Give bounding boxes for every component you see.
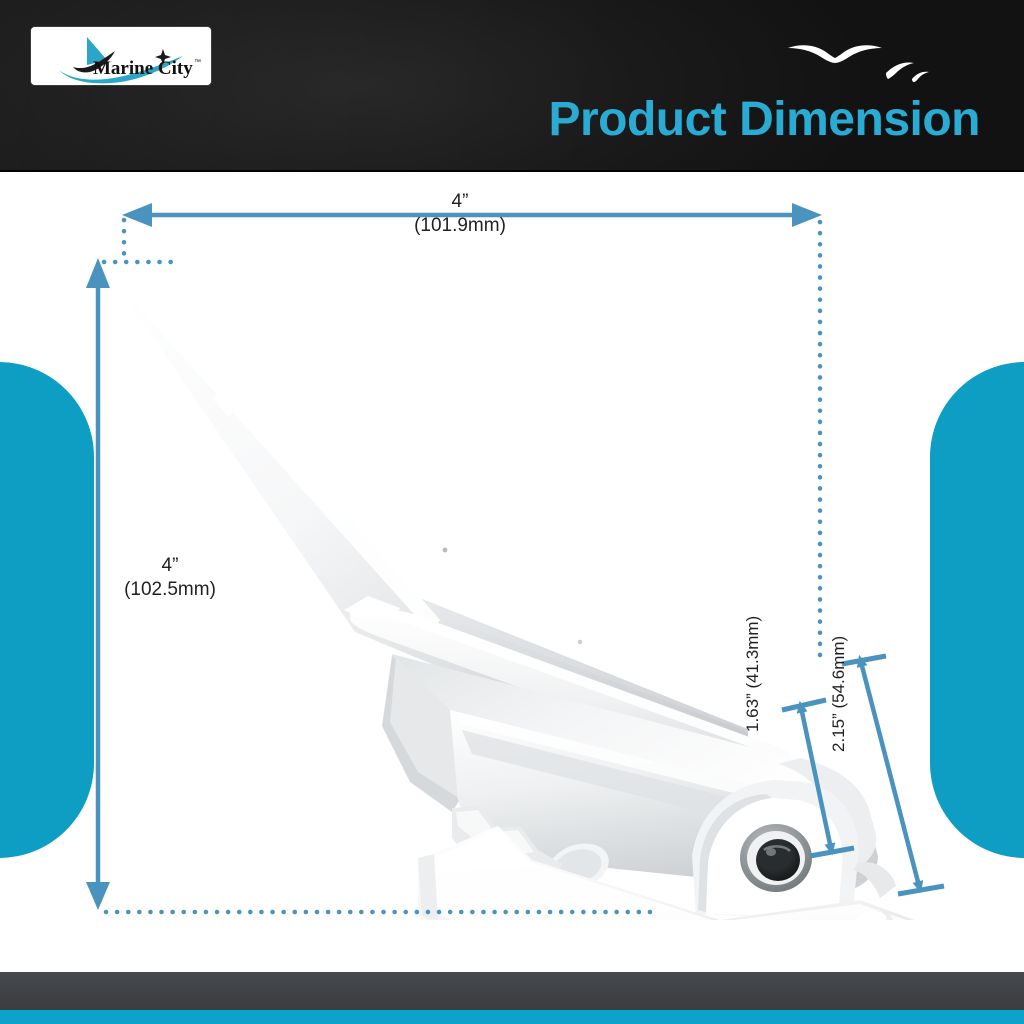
dimension-mm-value: (54.6mm) xyxy=(829,636,848,709)
dimension-label-mount-height: 2.15” (54.6mm) xyxy=(828,636,850,752)
trademark-text: ™ xyxy=(194,59,201,66)
arrow-up-icon xyxy=(86,258,110,288)
dimension-mount-height xyxy=(842,656,944,894)
dimension-mm-value: (102.5mm) xyxy=(75,578,265,602)
arrow-left-icon xyxy=(122,203,152,227)
page-header: Marine City ™ Product Dimension xyxy=(0,0,1024,172)
dimension-inch-value: 4” xyxy=(335,190,585,214)
dimension-mm-value: (101.9mm) xyxy=(335,214,585,238)
dimension-mm-value: (41.3mm) xyxy=(743,616,762,689)
dimension-label-base-height: 1.63” (41.3mm) xyxy=(742,616,764,732)
brand-logo: Marine City ™ xyxy=(31,27,211,85)
gull-medium-icon xyxy=(886,62,914,79)
page-title: Product Dimension xyxy=(548,93,980,146)
seagulls-decoration xyxy=(786,30,956,86)
brand-name-text: Marine City xyxy=(93,58,193,79)
dimension-inch-value: 2.15” xyxy=(829,713,848,752)
header-sheen xyxy=(0,0,1024,172)
dimension-inch-value: 1.63” xyxy=(743,693,762,732)
arrow-right-icon xyxy=(792,203,822,227)
gull-small-icon xyxy=(912,72,929,82)
header-title-row: Product Dimension xyxy=(0,96,1024,144)
dimension-label-overall-width: 4” (101.9mm) xyxy=(335,190,585,239)
footer-accent-strip xyxy=(0,1010,1024,1024)
dimension-label-overall-height: 4” (102.5mm) xyxy=(75,554,265,603)
marine-city-logo-svg: Marine City ™ xyxy=(31,27,211,85)
product-dimension-page: Marine City ™ Product Dimension xyxy=(0,0,1024,1024)
diagram-canvas: 4” (101.9mm) 4” (102.5mm) 1.63” (41.3mm)… xyxy=(0,172,1024,972)
footer-bar xyxy=(0,972,1024,1012)
dimension-inch-value: 4” xyxy=(75,554,265,578)
gull-large-icon xyxy=(788,45,882,63)
arrow-down-icon xyxy=(86,882,110,910)
